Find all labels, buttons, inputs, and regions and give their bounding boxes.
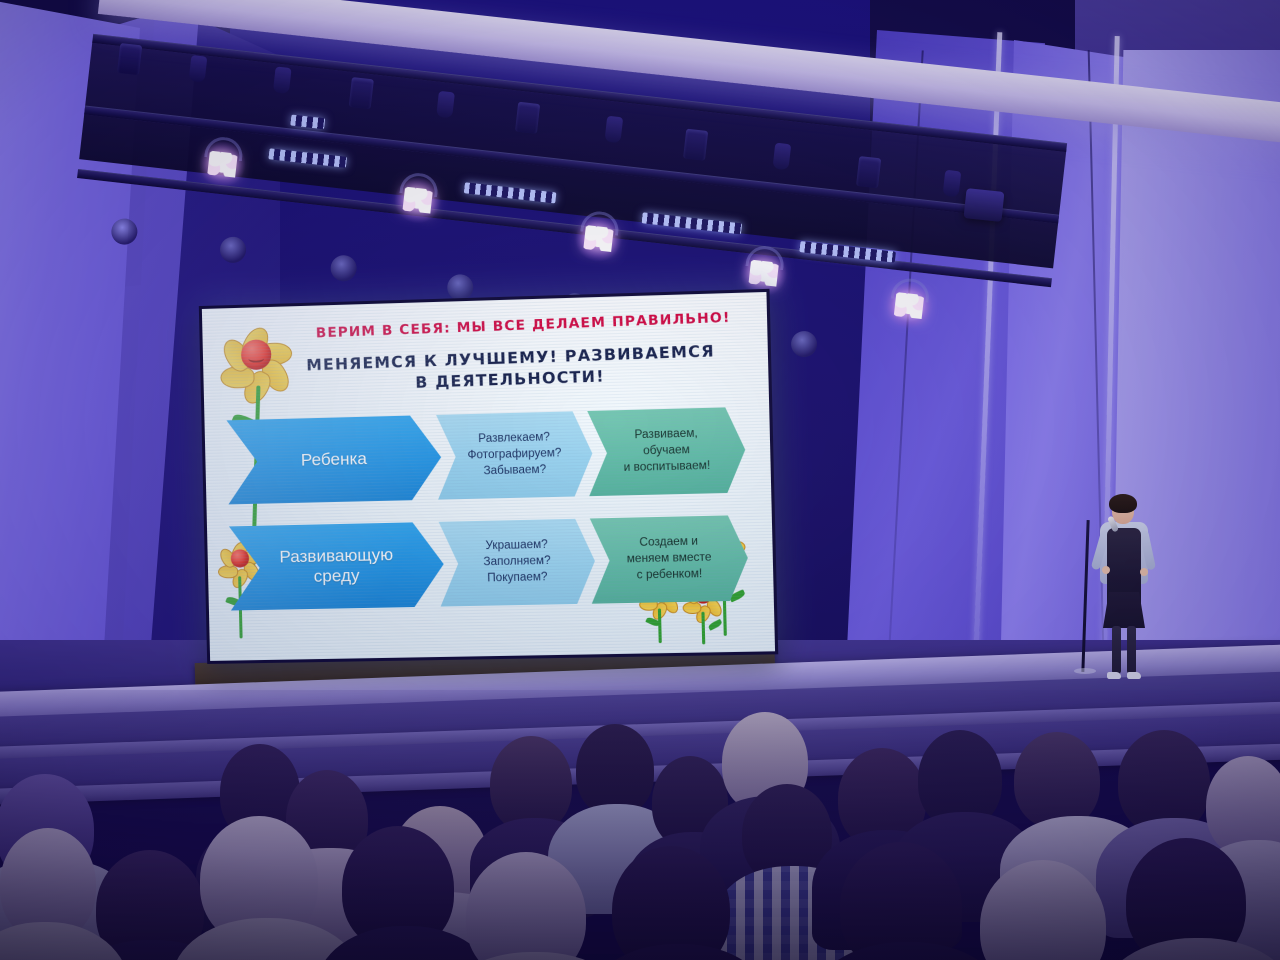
chevron-answer-2-text: Создаем и меняем вместе с ребенком! bbox=[614, 534, 725, 585]
presenter-hand-left bbox=[1102, 566, 1110, 574]
presenter-leg-right bbox=[1127, 626, 1136, 674]
hanging-lamp-2 bbox=[219, 235, 248, 264]
presenter-shoe-right bbox=[1127, 672, 1141, 679]
lamp-cluster-icon bbox=[583, 225, 614, 252]
lamp-cluster-icon bbox=[748, 260, 779, 287]
chevron-answer-1: Развиваем, обучаем и воспитываем! bbox=[587, 407, 746, 496]
slide-title-red: ВЕРИМ В СЕБЯ: МЫ ВСЕ ДЕЛАЕМ ПРАВИЛЬНО! bbox=[288, 309, 759, 343]
chevron-subject-2: Развивающую среду bbox=[229, 522, 445, 611]
flower-center bbox=[241, 339, 271, 369]
chevron-subject-1: Ребенка bbox=[226, 415, 442, 505]
truss-fixture-4 bbox=[683, 129, 708, 161]
presenter-speaker bbox=[1094, 496, 1156, 682]
presenter-leg-left bbox=[1112, 626, 1121, 674]
slide-chevron-row-2: Развивающую среду Украшаем? Заполняем? П… bbox=[229, 515, 749, 610]
truss-fixture-3 bbox=[515, 102, 540, 134]
hanging-lamp-3 bbox=[329, 254, 358, 283]
presenter-shoe-left bbox=[1107, 672, 1121, 679]
presentation-slide: ВЕРИМ В СЕБЯ: МЫ ВСЕ ДЕЛАЕМ ПРАВИЛЬНО! М… bbox=[202, 292, 775, 661]
audience-head bbox=[1014, 732, 1100, 828]
chevron-answer-2: Создаем и меняем вместе с ребенком! bbox=[590, 515, 749, 604]
chevron-subject-2-label: Развивающую среду bbox=[267, 545, 406, 588]
hanging-lamp-7 bbox=[790, 330, 819, 359]
chevron-questions-1: Развлекаем? Фотографируем? Забываем? bbox=[436, 411, 593, 500]
chevron-answer-1-text: Развиваем, обучаем и воспитываем! bbox=[610, 426, 723, 477]
lamp-cluster-icon bbox=[207, 151, 238, 178]
slide-chevron-row-1: Ребенка Развлекаем? Фотографируем? Забыв… bbox=[226, 407, 746, 505]
moving-head-light-5 bbox=[884, 280, 935, 331]
lamp-cluster-icon bbox=[894, 292, 925, 319]
moving-head-light-3 bbox=[573, 213, 624, 264]
truss-fixture-5 bbox=[856, 156, 881, 188]
chevron-questions-1-text: Развлекаем? Фотографируем? Забываем? bbox=[455, 430, 575, 481]
microphone-stand-base bbox=[1074, 668, 1096, 674]
chevron-questions-2-text: Украшаем? Заполняем? Покупаем? bbox=[471, 538, 564, 588]
audience-head bbox=[576, 724, 654, 816]
presenter-hair bbox=[1109, 494, 1137, 513]
truss-fixture-2 bbox=[349, 77, 374, 109]
lamp-cluster-icon bbox=[402, 187, 433, 214]
chevron-subject-1-label: Ребенка bbox=[295, 449, 374, 471]
chevron-questions-2: Украшаем? Заполняем? Покупаем? bbox=[439, 518, 596, 606]
presenter-skirt bbox=[1103, 592, 1145, 628]
audience-section bbox=[0, 700, 1280, 960]
flower-smile-icon bbox=[248, 354, 265, 363]
presenter-hand-right bbox=[1140, 568, 1148, 576]
projection-screen[interactable]: ВЕРИМ В СЕБЯ: МЫ ВСЕ ДЕЛАЕМ ПРАВИЛЬНО! М… bbox=[199, 289, 778, 664]
flower-leaf-6 bbox=[707, 619, 723, 631]
side-projector bbox=[964, 188, 1005, 222]
hanging-lamp-1 bbox=[110, 217, 139, 246]
slide-heading: МЕНЯЕМСЯ К ЛУЧШЕМУ! РАЗВИВАЕМСЯ В ДЕЯТЕЛ… bbox=[271, 340, 752, 399]
stage-photograph: ВЕРИМ В СЕБЯ: МЫ ВСЕ ДЕЛАЕМ ПРАВИЛЬНО! М… bbox=[0, 0, 1280, 960]
truss-fixture-1 bbox=[117, 43, 142, 75]
